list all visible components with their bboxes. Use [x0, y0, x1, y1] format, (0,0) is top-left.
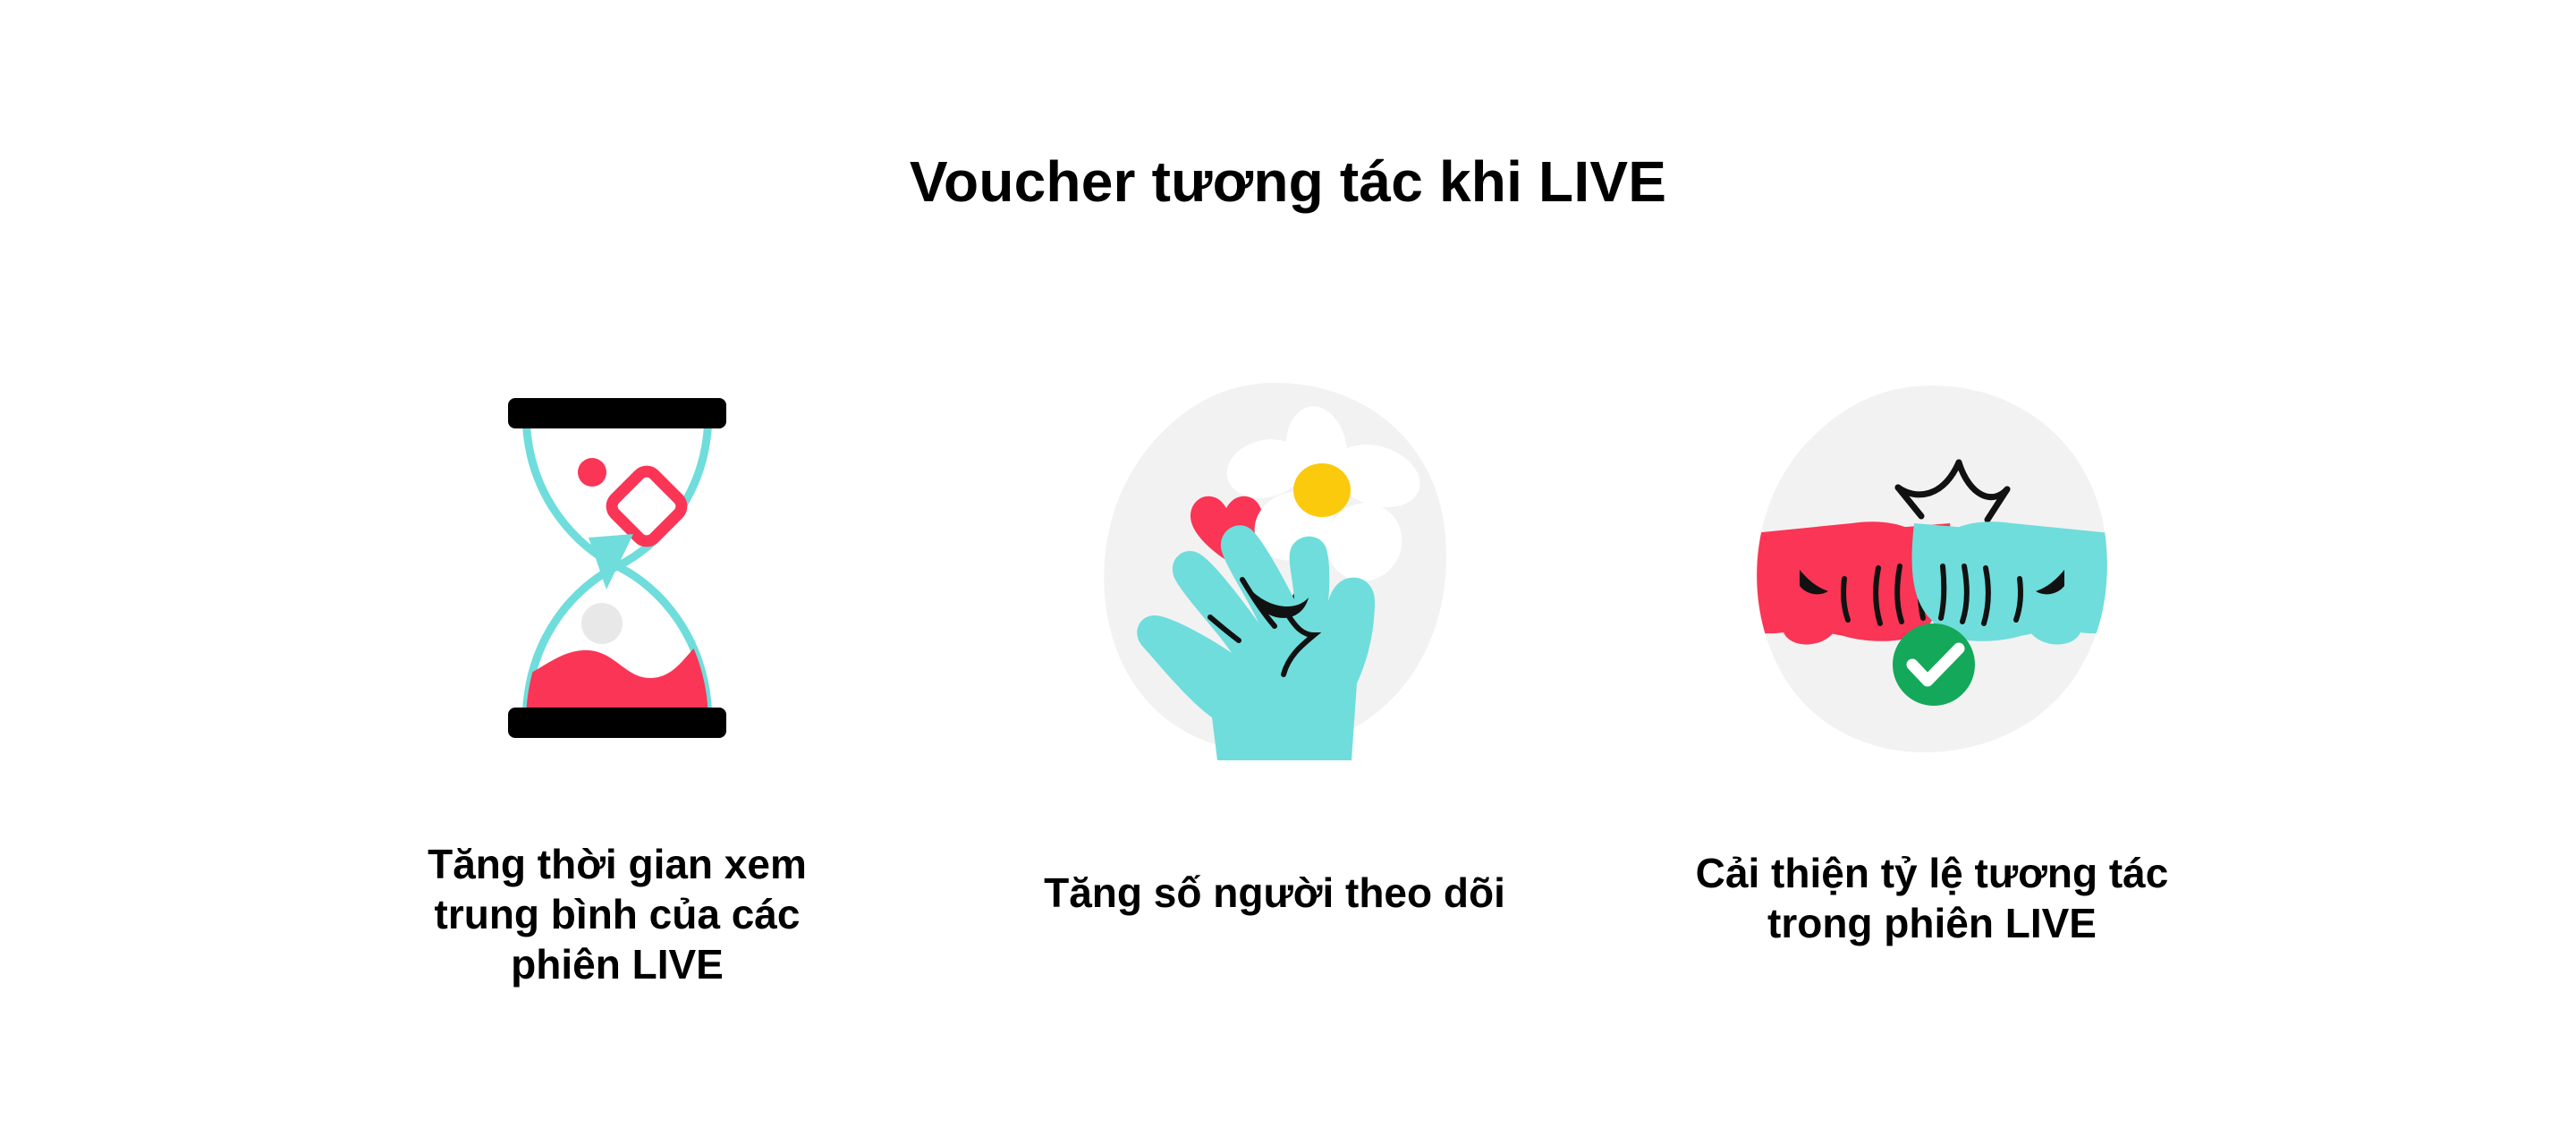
infographic-board: Voucher tương tác khi LIVE	[0, 0, 2576, 1136]
benefit-item-2: Tăng số người theo dõi	[962, 358, 1588, 918]
page-title-text: Voucher tương tác khi LIVE	[910, 150, 1666, 213]
benefit-item-3: Cải thiện tỷ lệ tương tác trong phiên LI…	[1619, 358, 2245, 948]
hourglass-dot-grey	[581, 603, 623, 644]
hourglass-bottom-cap	[508, 708, 726, 738]
check-badge-circle	[1893, 623, 1975, 706]
flower-center	[1293, 463, 1351, 517]
benefit-item-1: Tăng thời gian xem trung bình của các ph…	[304, 358, 930, 989]
benefits-row: Tăng thời gian xem trung bình của các ph…	[304, 358, 2245, 1073]
benefit-caption-2: Tăng số người theo dõi	[997, 868, 1552, 918]
hourglass-illustration	[411, 358, 823, 778]
benefit-caption-1: Tăng thời gian xem trung bình của các ph…	[376, 839, 859, 989]
hourglass-dot-red	[578, 458, 606, 487]
page-title: Voucher tương tác khi LIVE	[0, 150, 2576, 213]
hourglass-icon	[483, 389, 751, 747]
hand-flower-illustration	[1069, 358, 1480, 778]
fist-right	[1912, 521, 2156, 644]
hourglass-top-cap	[508, 398, 726, 428]
fist-bump-illustration	[1726, 358, 2138, 778]
hand-holding-flower-icon	[1096, 376, 1453, 760]
benefit-caption-3: Cải thiện tỷ lệ tương tác trong phiên LI…	[1664, 848, 2200, 948]
fist-bump-check-icon	[1744, 380, 2120, 756]
hourglass-diamond-outline	[607, 467, 686, 546]
